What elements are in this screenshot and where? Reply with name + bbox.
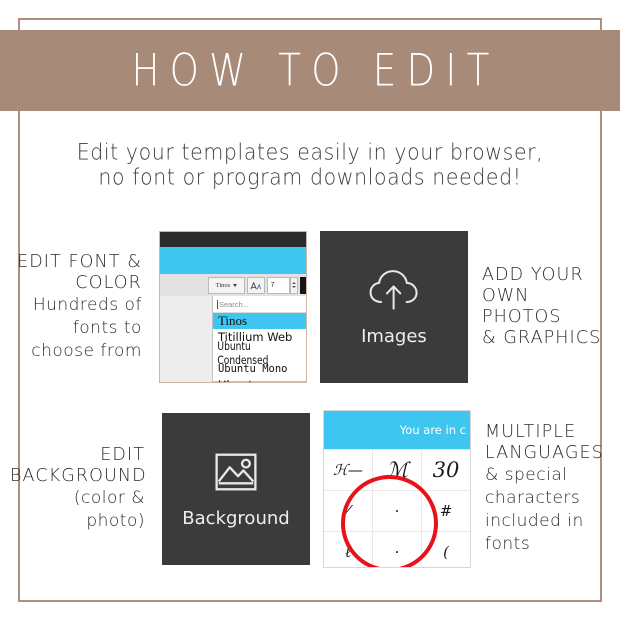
background-panel-label: Background xyxy=(182,508,289,529)
font-toolbar: Tinos 7 xyxy=(160,274,306,296)
picture-icon xyxy=(209,450,263,494)
caption-line: & special xyxy=(485,464,610,487)
text-cursor xyxy=(300,277,306,294)
caption-line: LANGUAGES xyxy=(485,443,610,464)
caption-line: (color & xyxy=(10,487,145,510)
app-titlebar xyxy=(160,232,306,247)
background-panel[interactable]: Background xyxy=(162,413,310,565)
languages-panel: You are in c ℋ— ℳ 30 ⁄ · # ℓ · ( xyxy=(323,410,471,568)
font-search-input[interactable]: Search... xyxy=(213,296,307,313)
caption-line: fonts to xyxy=(10,317,142,340)
font-option-tinos[interactable]: Tinos xyxy=(213,313,307,329)
caption-line: characters xyxy=(485,487,610,510)
languages-banner-text: You are in c xyxy=(400,423,466,437)
page-title: HOW TO EDIT xyxy=(121,45,499,97)
subtitle-line-2: no font or program downloads needed! xyxy=(0,164,620,191)
glyph-cell-highlighted[interactable]: ℳ xyxy=(373,450,421,490)
languages-banner: You are in c xyxy=(324,411,470,449)
caption-edit-background: EDIT BACKGROUND (color & photo) xyxy=(0,445,155,533)
caption-line: MULTIPLE xyxy=(485,422,610,443)
title-banner: HOW TO EDIT xyxy=(0,30,620,111)
font-family-select[interactable]: Tinos xyxy=(208,277,245,294)
caption-line: ADD YOUR xyxy=(482,265,610,286)
glyph-grid[interactable]: ℋ— ℳ 30 ⁄ · # ℓ · ( xyxy=(324,449,470,568)
caption-edit-font-color: EDIT FONT & COLOR Hundreds of fonts to c… xyxy=(0,252,152,363)
glyph-cell[interactable]: ℋ— xyxy=(324,450,372,490)
subtitle: Edit your templates easily in your brows… xyxy=(0,140,620,190)
caption-line: COLOR xyxy=(10,273,142,294)
images-panel-label: Images xyxy=(361,326,427,347)
font-size-value: 7 xyxy=(271,282,275,289)
font-size-stepper[interactable] xyxy=(290,277,298,294)
glyph-cell[interactable]: 30 xyxy=(422,450,470,490)
content-row-top: EDIT FONT & COLOR Hundreds of fonts to c… xyxy=(0,222,620,392)
glyph-cell[interactable]: ℓ xyxy=(324,532,372,568)
glyph-cell[interactable]: ⁄ xyxy=(324,491,372,531)
caption-line: & GRAPHICS xyxy=(482,328,610,349)
glyph-cell[interactable]: # xyxy=(422,491,470,531)
caption-line: EDIT xyxy=(10,445,145,466)
caption-line: photo) xyxy=(10,510,145,533)
chevron-up-icon[interactable] xyxy=(292,282,296,284)
font-family-dropdown[interactable]: Search... Tinos Titillium Web Ubuntu Con… xyxy=(212,296,307,382)
font-option-ubuntu[interactable]: Ubuntu xyxy=(213,377,307,383)
glyph-cell[interactable]: · xyxy=(373,532,421,568)
caption-line: EDIT FONT & xyxy=(10,252,142,273)
app-canvas xyxy=(160,247,306,274)
glyph-cell[interactable]: ( xyxy=(422,532,470,568)
font-editor-panel: Tinos 7 Search... xyxy=(159,231,307,383)
cloud-upload-icon xyxy=(367,268,421,312)
glyph-cell[interactable]: · xyxy=(373,491,421,531)
caption-line: OWN PHOTOS xyxy=(482,286,610,328)
content-row-bottom: EDIT BACKGROUND (color & photo) Backgrou… xyxy=(0,400,620,578)
caption-line: choose from xyxy=(10,340,142,363)
caption-line: included in xyxy=(485,510,610,533)
font-size-input[interactable]: 7 xyxy=(267,277,290,294)
font-search-placeholder: Search... xyxy=(219,300,249,309)
chevron-down-icon xyxy=(233,284,237,287)
images-panel[interactable]: Images xyxy=(320,231,468,383)
caption-line: BACKGROUND xyxy=(10,466,145,487)
font-option-ubuntu-condensed[interactable]: Ubuntu Condensed xyxy=(213,345,296,361)
caption-multiple-languages: MULTIPLE LANGUAGES & special characters … xyxy=(471,422,620,556)
font-size-icon[interactable] xyxy=(247,277,265,294)
caption-line: Hundreds of xyxy=(10,294,142,317)
subtitle-line-1: Edit your templates easily in your brows… xyxy=(0,139,620,166)
caption-add-photos: ADD YOUR OWN PHOTOS & GRAPHICS xyxy=(468,265,620,349)
caption-line: fonts xyxy=(485,533,610,556)
font-family-value: Tinos xyxy=(216,282,231,289)
chevron-down-icon[interactable] xyxy=(292,286,296,288)
text-caret-icon xyxy=(217,300,218,309)
